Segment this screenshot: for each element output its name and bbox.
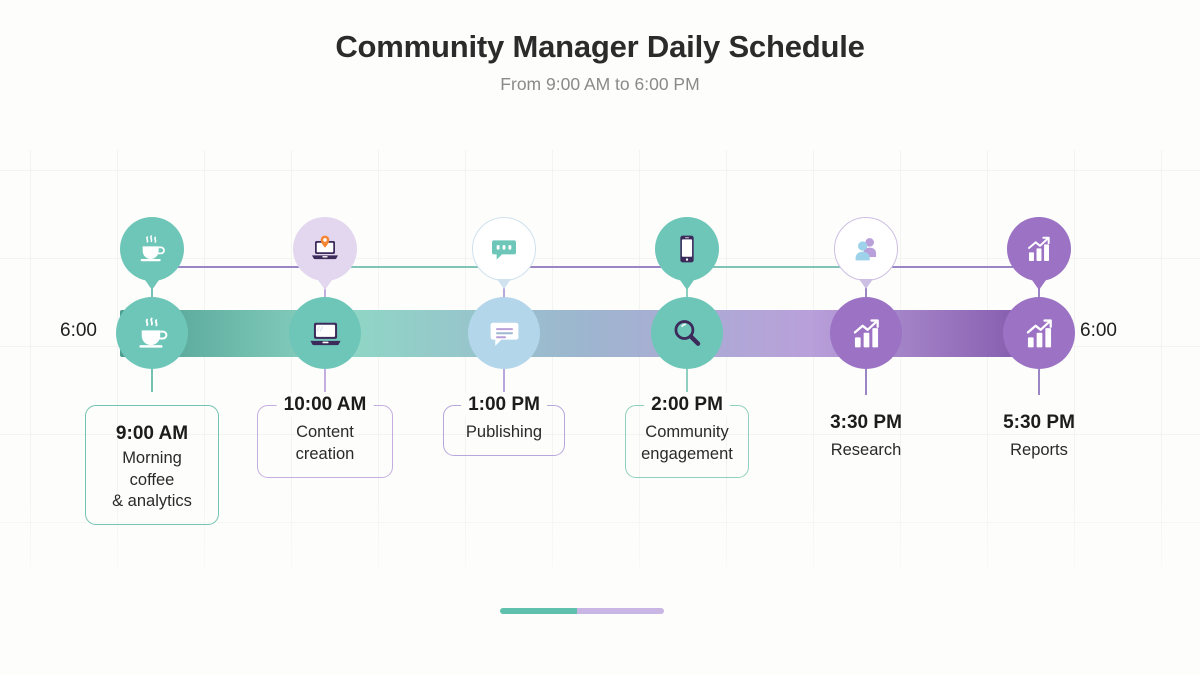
axis-start-label: 6:00 bbox=[60, 320, 97, 342]
milestone-description: Community engagement bbox=[638, 422, 736, 466]
coffee-cup-icon bbox=[136, 233, 168, 265]
bar-chart-arrow-icon bbox=[848, 315, 885, 352]
milestone-bubble-5[interactable] bbox=[834, 217, 898, 281]
footer-progress-track bbox=[577, 608, 664, 614]
milestone-time: 3:30 PM bbox=[819, 411, 913, 435]
milestone-bubble-2[interactable] bbox=[293, 217, 357, 281]
milestone-label-5: 3:30 PMResearch bbox=[806, 396, 926, 474]
milestone-node-6[interactable] bbox=[1003, 297, 1075, 369]
bubble-tail bbox=[680, 280, 694, 290]
milestone-card: 10:00 AMContent creation bbox=[257, 405, 393, 478]
milestone-description: Publishing bbox=[456, 422, 552, 444]
bubble-connector-line bbox=[530, 266, 661, 268]
milestone-node-4[interactable] bbox=[651, 297, 723, 369]
two-people-icon bbox=[850, 233, 882, 265]
milestone-card: 2:00 PMCommunity engagement bbox=[625, 405, 749, 478]
bar-chart-arrow-icon bbox=[1023, 233, 1055, 265]
footer-progress-fill bbox=[500, 608, 577, 614]
timeline: 9:00 AMMorning coffee & analytics10:00 A… bbox=[0, 0, 1200, 675]
milestone-description: Morning coffee & analytics bbox=[98, 448, 206, 513]
milestone-label-2: 10:00 AMContent creation bbox=[257, 405, 393, 478]
smartphone-icon bbox=[671, 233, 703, 265]
milestone-time: 10:00 AM bbox=[277, 393, 374, 417]
milestone-bubble-4[interactable] bbox=[655, 217, 719, 281]
milestone-bubble-1[interactable] bbox=[120, 217, 184, 281]
chat-lines-icon bbox=[486, 315, 523, 352]
milestone-time: 9:00 AM bbox=[98, 422, 206, 446]
coffee-cup-icon bbox=[134, 315, 171, 352]
bubble-connector-line bbox=[178, 266, 299, 268]
milestone-time: 2:00 PM bbox=[644, 393, 730, 417]
milestone-label-3: 1:00 PMPublishing bbox=[443, 405, 565, 456]
infographic-canvas: Community Manager Daily Schedule From 9:… bbox=[0, 0, 1200, 675]
milestone-description: Research bbox=[819, 440, 913, 462]
bar-chart-arrow-icon bbox=[1021, 315, 1058, 352]
milestone-card: 1:00 PMPublishing bbox=[443, 405, 565, 456]
milestone-label-1: 9:00 AMMorning coffee & analytics bbox=[85, 405, 219, 525]
node-to-label-stem bbox=[503, 369, 505, 392]
bubble-connector-line bbox=[713, 266, 840, 268]
milestone-card: 3:30 PMResearch bbox=[806, 396, 926, 474]
bubble-tail bbox=[145, 280, 159, 290]
bubble-connector-line bbox=[892, 266, 1013, 268]
node-to-label-stem bbox=[151, 369, 153, 392]
milestone-bubble-6[interactable] bbox=[1007, 217, 1071, 281]
milestone-node-3[interactable] bbox=[468, 297, 540, 369]
laptop-location-pin-icon bbox=[309, 233, 341, 265]
timeline-spine bbox=[120, 310, 1040, 357]
milestone-node-2[interactable] bbox=[289, 297, 361, 369]
milestone-time: 1:00 PM bbox=[461, 393, 547, 417]
footer-progress-bar bbox=[500, 608, 664, 614]
node-to-label-stem bbox=[686, 369, 688, 392]
axis-end-label: 6:00 bbox=[1080, 320, 1117, 342]
node-to-label-stem bbox=[324, 369, 326, 392]
milestone-node-5[interactable] bbox=[830, 297, 902, 369]
milestone-bubble-3[interactable] bbox=[472, 217, 536, 281]
bubble-connector-line bbox=[351, 266, 478, 268]
milestone-card: 5:30 PMReports bbox=[984, 396, 1094, 474]
node-to-label-stem bbox=[865, 369, 867, 395]
milestone-description: Content creation bbox=[270, 422, 380, 466]
chat-dots-icon bbox=[488, 233, 520, 265]
bubble-tail bbox=[318, 280, 332, 290]
bubble-tail bbox=[859, 279, 873, 289]
milestone-label-6: 5:30 PMReports bbox=[984, 396, 1094, 474]
milestone-description: Reports bbox=[997, 440, 1081, 462]
milestone-card: 9:00 AMMorning coffee & analytics bbox=[85, 405, 219, 525]
milestone-label-4: 2:00 PMCommunity engagement bbox=[625, 405, 749, 478]
laptop-icon bbox=[307, 315, 344, 352]
milestone-node-1[interactable] bbox=[116, 297, 188, 369]
bubble-tail bbox=[1032, 280, 1046, 290]
bubble-tail bbox=[497, 279, 511, 289]
milestone-time: 5:30 PM bbox=[997, 411, 1081, 435]
node-to-label-stem bbox=[1038, 369, 1040, 395]
magnifier-icon bbox=[669, 315, 706, 352]
